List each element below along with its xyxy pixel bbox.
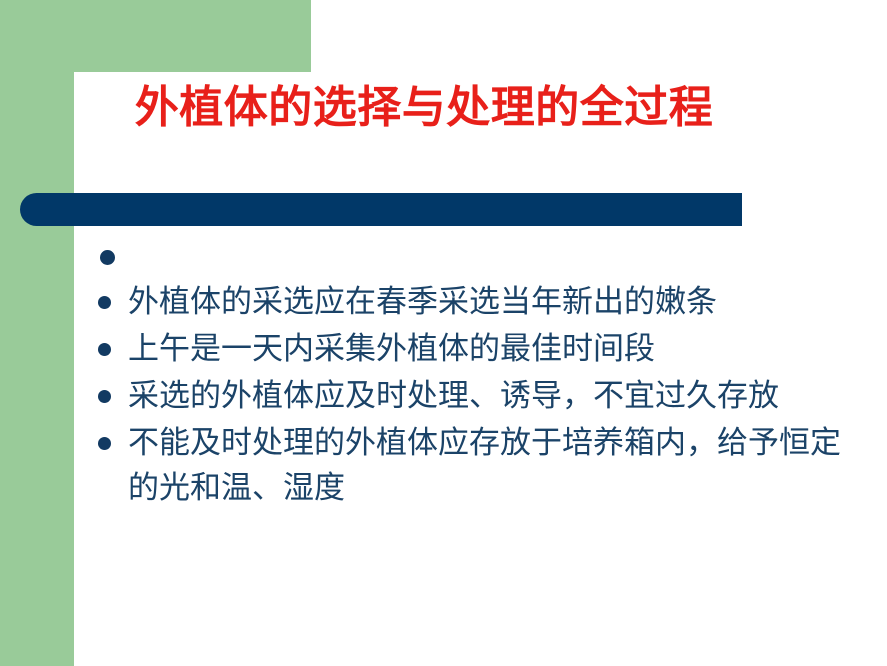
list-item: 不能及时处理的外植体应存放于培养箱内，给予恒定的光和温、湿度 bbox=[88, 420, 848, 510]
bullet-dot-icon bbox=[100, 250, 115, 265]
list-item-label: 上午是一天内采集外植体的最佳时间段 bbox=[128, 326, 848, 371]
list-item: 上午是一天内采集外植体的最佳时间段 bbox=[88, 326, 848, 371]
green-top-block-decoration bbox=[0, 0, 311, 72]
bullet-dot-icon bbox=[98, 343, 111, 356]
list-item-label: 采选的外植体应及时处理、诱导，不宜过久存放 bbox=[128, 373, 848, 418]
list-item: 采选的外植体应及时处理、诱导，不宜过久存放 bbox=[88, 373, 848, 418]
title-divider-bar bbox=[20, 193, 742, 226]
bullet-dot-icon bbox=[98, 390, 111, 403]
presentation-slide: 外植体的选择与处理的全过程 外植体的采选应在春季采选当年新出的嫩条 上午是一天内… bbox=[0, 0, 887, 666]
green-side-strip-decoration bbox=[0, 0, 74, 666]
list-item bbox=[88, 243, 848, 269]
bullet-dot-icon bbox=[98, 296, 111, 309]
list-item-label: 外植体的采选应在春季采选当年新出的嫩条 bbox=[128, 279, 848, 324]
bullet-list: 外植体的采选应在春季采选当年新出的嫩条 上午是一天内采集外植体的最佳时间段 采选… bbox=[88, 243, 848, 512]
list-item: 外植体的采选应在春季采选当年新出的嫩条 bbox=[88, 279, 848, 324]
bullet-dot-icon bbox=[98, 437, 111, 450]
list-item-label: 不能及时处理的外植体应存放于培养箱内，给予恒定的光和温、湿度 bbox=[128, 420, 848, 510]
page-title: 外植体的选择与处理的全过程 bbox=[74, 84, 774, 132]
